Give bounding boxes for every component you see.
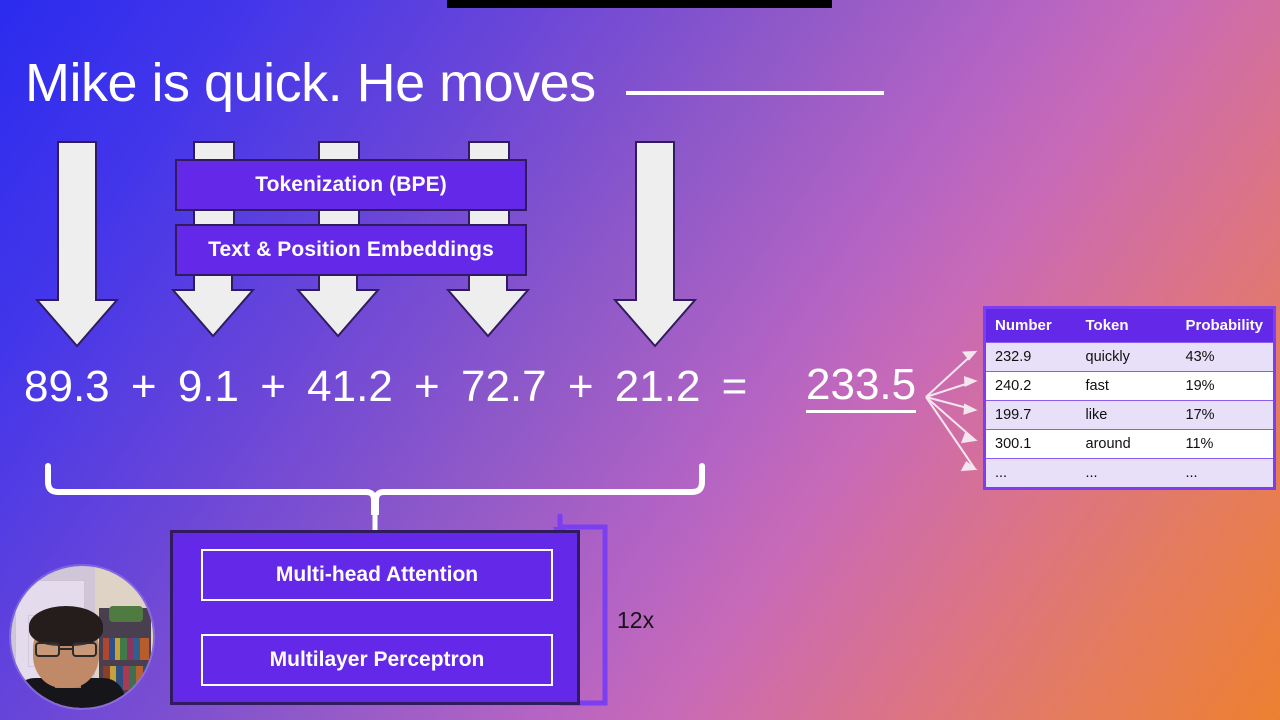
blank-underscore bbox=[626, 91, 884, 95]
webcam-person-hair bbox=[29, 606, 103, 646]
page-title: Mike is quick. He moves bbox=[25, 52, 884, 114]
table-header-probability: Probability bbox=[1177, 308, 1275, 343]
equation-term-4: 72.7 bbox=[461, 362, 547, 411]
cell-probability: 11% bbox=[1177, 430, 1275, 459]
glasses-bridge bbox=[60, 648, 72, 650]
cell-probability: ... bbox=[1177, 459, 1275, 489]
glasses-right-lens bbox=[72, 642, 97, 657]
equation-operator-4: + bbox=[568, 362, 594, 411]
equation-operator-1: + bbox=[131, 362, 157, 411]
cell-probability: 43% bbox=[1177, 343, 1275, 372]
equation-operator-3: + bbox=[414, 362, 440, 411]
equation-operator-2: + bbox=[260, 362, 286, 411]
webcam-plant bbox=[109, 606, 143, 622]
down-arrow-3 bbox=[298, 272, 378, 336]
multilayer-perceptron-label: Multilayer Perceptron bbox=[270, 648, 485, 672]
cell-token: fast bbox=[1077, 372, 1177, 401]
pipeline-box-embeddings[interactable]: Text & Position Embeddings bbox=[175, 224, 527, 276]
multi-head-attention-label: Multi-head Attention bbox=[276, 563, 478, 587]
cell-token: around bbox=[1077, 430, 1177, 459]
cell-probability: 17% bbox=[1177, 401, 1275, 430]
down-arrow-2 bbox=[173, 272, 253, 336]
cell-number: 232.9 bbox=[985, 343, 1077, 372]
table-header-token: Token bbox=[1077, 308, 1177, 343]
cell-probability: 19% bbox=[1177, 372, 1275, 401]
table-row[interactable]: 300.1 around 11% bbox=[985, 430, 1275, 459]
cell-number: 300.1 bbox=[985, 430, 1077, 459]
table-header-number: Number bbox=[985, 308, 1077, 343]
table-header-row: Number Token Probability bbox=[985, 308, 1275, 343]
table-row[interactable]: 240.2 fast 19% bbox=[985, 372, 1275, 401]
repeat-count-label: 12x bbox=[617, 607, 654, 634]
cell-number: 199.7 bbox=[985, 401, 1077, 430]
glasses-icon bbox=[35, 642, 97, 657]
probability-table: Number Token Probability 232.9 quickly 4… bbox=[983, 306, 1276, 490]
down-arrow-4 bbox=[448, 272, 528, 336]
cell-token: like bbox=[1077, 401, 1177, 430]
table-row[interactable]: 199.7 like 17% bbox=[985, 401, 1275, 430]
pipeline-box-embeddings-label: Text & Position Embeddings bbox=[208, 238, 494, 262]
equation-expression: 89.3 + 9.1 + 41.2 + 72.7 + 21.2 = bbox=[24, 362, 756, 412]
table-row[interactable]: ... ... ... bbox=[985, 459, 1275, 489]
equation-equals-sign: = bbox=[722, 362, 748, 411]
result-to-table-arrows bbox=[926, 352, 975, 470]
headline-text: Mike is quick. He moves bbox=[25, 53, 596, 113]
pipeline-box-tokenization[interactable]: Tokenization (BPE) bbox=[175, 159, 527, 211]
cell-number: ... bbox=[985, 459, 1077, 489]
equation-result: 233.5 bbox=[806, 362, 916, 413]
curly-brace bbox=[48, 466, 702, 512]
transformer-block[interactable]: Multi-head Attention Multilayer Perceptr… bbox=[170, 530, 580, 705]
webcam-books-row-1 bbox=[103, 638, 149, 660]
cell-token: ... bbox=[1077, 459, 1177, 489]
equation-term-3: 41.2 bbox=[307, 362, 393, 411]
down-arrow-1 bbox=[37, 142, 117, 346]
cell-token: quickly bbox=[1077, 343, 1177, 372]
multilayer-perceptron-box[interactable]: Multilayer Perceptron bbox=[201, 634, 553, 686]
cell-number: 240.2 bbox=[985, 372, 1077, 401]
down-arrow-5 bbox=[615, 142, 695, 346]
equation-term-2: 9.1 bbox=[178, 362, 239, 411]
webcam-inset[interactable] bbox=[11, 566, 153, 708]
equation-term-1: 89.3 bbox=[24, 362, 110, 411]
equation-term-5: 21.2 bbox=[615, 362, 701, 411]
table-row[interactable]: 232.9 quickly 43% bbox=[985, 343, 1275, 372]
top-black-bar bbox=[447, 0, 832, 8]
pipeline-box-tokenization-label: Tokenization (BPE) bbox=[255, 173, 447, 197]
glasses-left-lens bbox=[35, 642, 60, 657]
multi-head-attention-box[interactable]: Multi-head Attention bbox=[201, 549, 553, 601]
